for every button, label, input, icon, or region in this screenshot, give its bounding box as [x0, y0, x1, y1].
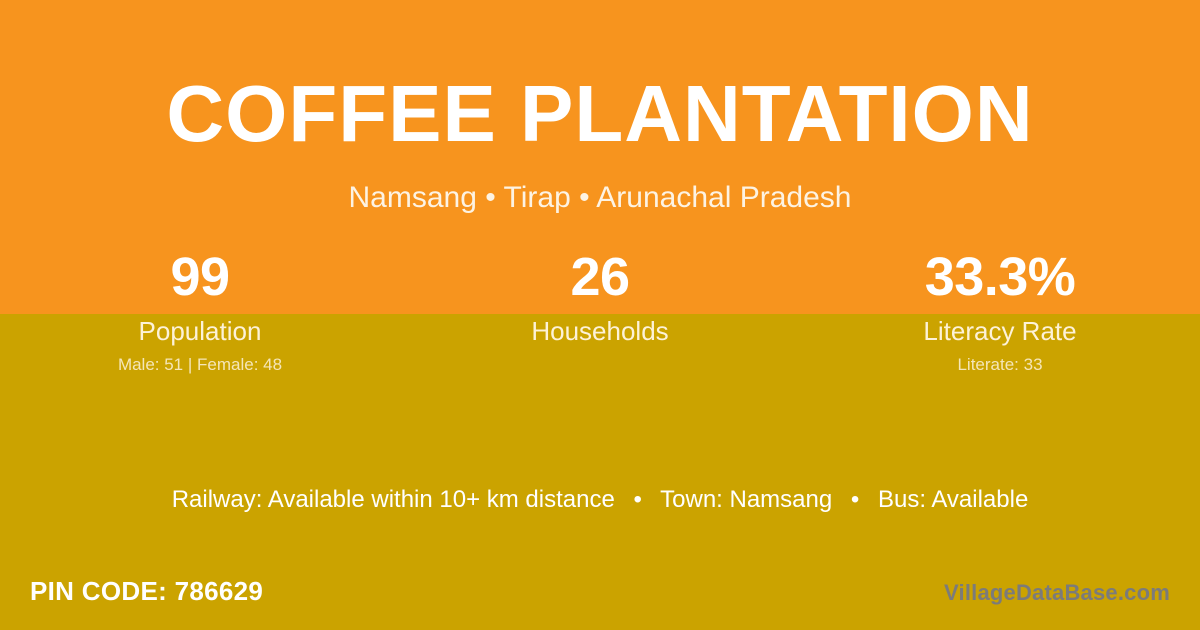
stat-value: 33.3%: [800, 246, 1200, 308]
amenity-town: Town: Namsang: [660, 486, 832, 513]
stat-label: Population: [0, 316, 400, 346]
village-info-card: COFFEE PLANTATION Namsang • Tirap • Arun…: [0, 0, 1200, 630]
brand-watermark: VillageDataBase.com: [944, 576, 1170, 610]
page-title: COFFEE PLANTATION: [0, 74, 1200, 154]
stat-label: Households: [400, 316, 800, 346]
amenities-line: Railway: Available within 10+ km distanc…: [0, 485, 1200, 515]
stat-households: 26 Households: [400, 246, 800, 375]
amenity-railway: Railway: Available within 10+ km distanc…: [172, 486, 615, 513]
bullet-separator-icon: •: [622, 485, 654, 515]
amenity-bus: Bus: Available: [878, 486, 1028, 513]
stat-label: Literacy Rate: [800, 316, 1200, 346]
stat-literacy-rate: 33.3% Literacy Rate Literate: 33: [800, 246, 1200, 375]
statistics-row: 99 Population Male: 51 | Female: 48 26 H…: [0, 246, 1200, 375]
card-footer: PIN CODE: 786629 VillageDataBase.com: [0, 572, 1200, 614]
pin-code-label: PIN CODE: 786629: [30, 572, 263, 610]
stat-value: 26: [400, 246, 800, 308]
stat-population: 99 Population Male: 51 | Female: 48: [0, 246, 400, 375]
bullet-separator-icon: •: [839, 485, 871, 515]
stat-detail: Male: 51 | Female: 48: [0, 355, 400, 375]
stat-detail: Literate: 33: [800, 355, 1200, 375]
location-breadcrumb: Namsang • Tirap • Arunachal Pradesh: [0, 180, 1200, 216]
stat-value: 99: [0, 246, 400, 308]
